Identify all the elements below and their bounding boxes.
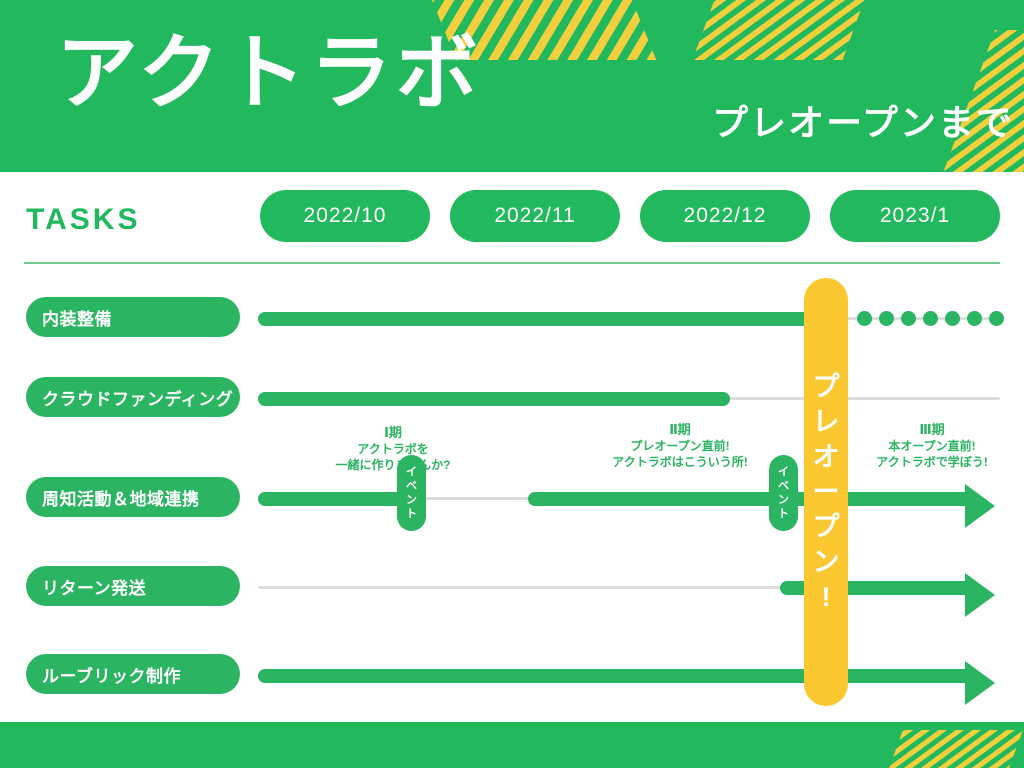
preopen-char-1: レ [813, 405, 840, 440]
task-dot-0-5 [967, 311, 982, 326]
preopen-char-2: オ [813, 440, 840, 475]
task-track-3 [258, 586, 783, 589]
phase-2: Ⅱ期プレオープン直前!アクトラボはこういう所! [560, 422, 800, 470]
preopen-milestone-bar[interactable]: プレオープン! [804, 278, 848, 706]
phase-1-line-0: アクトラボを [258, 441, 528, 457]
preopen-char-4: プ [813, 510, 840, 545]
task-bar-1-0[interactable] [258, 392, 730, 406]
task-pill-4[interactable]: ルーブリック制作 [26, 654, 240, 694]
phase-3-phase: Ⅲ期 [852, 422, 1012, 438]
event-2-char-2: ン [778, 493, 789, 507]
task-dot-0-4 [945, 311, 960, 326]
phase-1: Ⅰ期アクトラボを一緒に作りませんか? [258, 425, 528, 473]
task-pill-1[interactable]: クラウドファンディング [26, 377, 240, 417]
task-pill-3[interactable]: リターン発送 [26, 566, 240, 606]
timeline-page: アクトラボ プレオープンまで TASKS 2022/102022/112022/… [0, 0, 1024, 768]
task-arrow-bar-4[interactable] [258, 669, 972, 683]
phase-2-phase: Ⅱ期 [560, 422, 800, 438]
phase-1-phase: Ⅰ期 [258, 425, 528, 441]
preopen-char-0: プ [813, 370, 840, 405]
header-divider [24, 262, 1000, 264]
task-dot-0-3 [923, 311, 938, 326]
month-pill-2022-11[interactable]: 2022/11 [450, 190, 620, 242]
tasks-label: TASKS [26, 203, 140, 237]
event-1-pill[interactable]: イベント [397, 455, 426, 531]
task-dot-0-6 [989, 311, 1004, 326]
month-pill-2023-1[interactable]: 2023/1 [830, 190, 1000, 242]
task-arrow-head-3 [965, 573, 995, 617]
task-pill-2[interactable]: 周知活動＆地域連携 [26, 477, 240, 517]
month-pill-2022-10[interactable]: 2022/10 [260, 190, 430, 242]
phase-2-line-1: アクトラボはこういう所! [560, 454, 800, 470]
task-dot-0-0 [857, 311, 872, 326]
task-arrow-head-4 [965, 661, 995, 705]
diagonal-stripe-decoration [881, 730, 1023, 768]
event-1-char-3: ト [406, 507, 417, 521]
task-arrow-head-2 [965, 484, 995, 528]
page-header: アクトラボ プレオープンまで [0, 0, 1024, 172]
phase-1-line-1: 一緒に作りませんか? [258, 457, 528, 473]
event-1-char-1: ベ [406, 479, 417, 493]
diagonal-stripe-decoration [693, 0, 886, 60]
event-2-char-3: ト [778, 507, 789, 521]
diagonal-stripe-decoration [937, 30, 1024, 172]
page-footer [0, 722, 1024, 768]
preopen-char-3: ー [813, 475, 840, 510]
brand-title: アクトラボ [56, 28, 482, 120]
task-bar-0-0[interactable] [258, 312, 818, 326]
preopen-char-5: ン [813, 545, 840, 580]
phase-2-line-0: プレオープン直前! [560, 438, 800, 454]
event-1-char-0: イ [406, 465, 417, 479]
month-pill-2022-12[interactable]: 2022/12 [640, 190, 810, 242]
task-dot-0-1 [879, 311, 894, 326]
phase-3-line-1: アクトラボで学ぼう! [852, 454, 1012, 470]
phase-3-line-0: 本オープン直前! [852, 438, 1012, 454]
header-subtitle: プレオープンまで [712, 102, 1014, 144]
event-1-char-2: ン [406, 493, 417, 507]
preopen-char-6: ! [822, 580, 831, 615]
task-dot-0-2 [901, 311, 916, 326]
event-2-char-0: イ [778, 465, 789, 479]
task-pill-0[interactable]: 内装整備 [26, 297, 240, 337]
task-bar-2-0[interactable] [258, 492, 408, 506]
event-2-pill[interactable]: イベント [769, 455, 798, 531]
phase-3: Ⅲ期本オープン直前!アクトラボで学ぼう! [852, 422, 1012, 470]
event-2-char-1: ベ [778, 479, 789, 493]
